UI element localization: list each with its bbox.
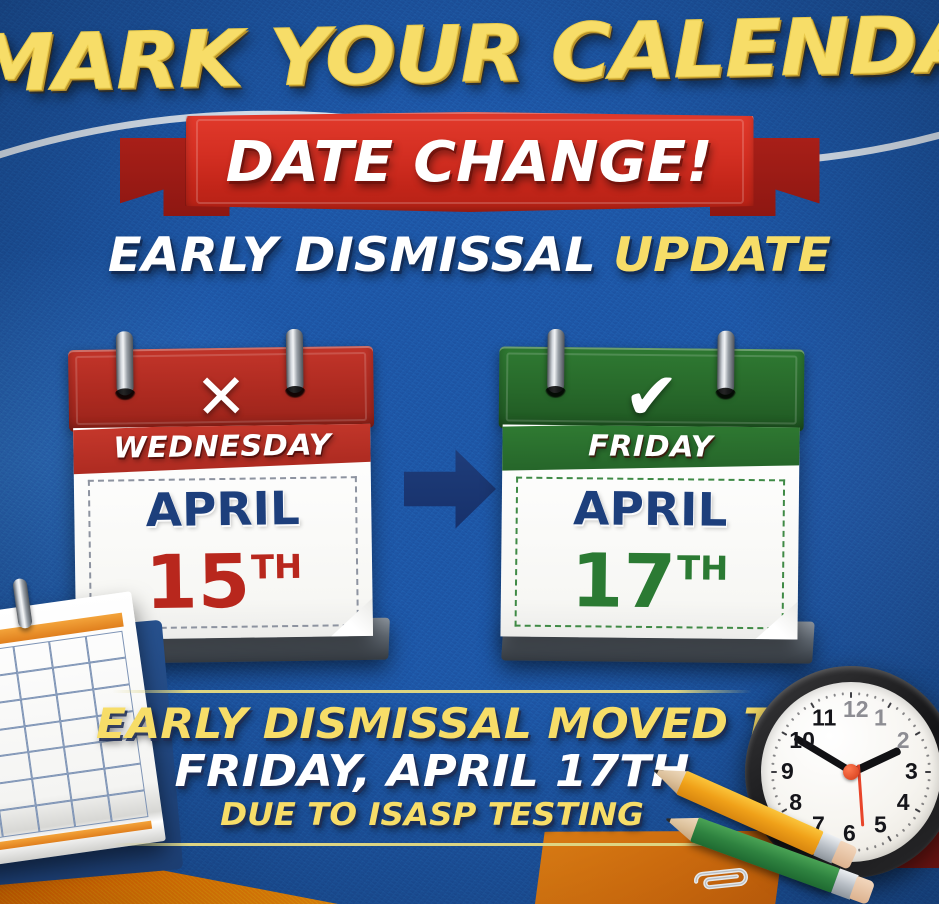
calendar-day-band: WEDNESDAY (73, 424, 373, 475)
clock-tick (773, 754, 776, 757)
clock-tick (818, 699, 821, 703)
clock-tick (775, 795, 778, 798)
calendar-top-bar: ✕ (68, 346, 374, 432)
clock-tick (778, 739, 782, 742)
clock-numeral-4: 4 (897, 789, 910, 816)
clock-tick (850, 692, 852, 698)
clock-numeral-9: 9 (781, 758, 794, 785)
date-change-ribbon: DATE CHANGE! (120, 112, 820, 222)
calendar-day-digits: 17 (570, 538, 676, 625)
message-bottom-rule (112, 843, 752, 846)
new-date-calendar: ✔ FRIDAY APRIL 17TH (496, 328, 804, 651)
clock-tick (902, 829, 905, 833)
desk-grid-cell (35, 801, 75, 833)
clock-tick (927, 763, 930, 765)
message-line-1: EARLY DISMISSAL MOVED TO (96, 701, 768, 747)
clock-tick (858, 848, 860, 851)
subtitle: EARLY DISMISSAL UPDATE (0, 228, 939, 283)
clock-tick (858, 692, 860, 695)
calendar-day-name: WEDNESDAY (113, 427, 331, 464)
calendar-ring-left (116, 331, 134, 395)
ribbon-body: DATE CHANGE! (186, 112, 754, 212)
clock-tick (908, 823, 912, 826)
clock-tick (895, 834, 898, 838)
clock-tick (921, 739, 925, 742)
clock-tick (771, 771, 777, 773)
page-title: MARK YOUR CALENDARS! (0, 6, 939, 104)
calendar-day-band: FRIDAY (500, 424, 799, 470)
message-line-3: DUE TO ISASP TESTING (96, 797, 768, 833)
clock-tick (887, 836, 892, 842)
clock-tick (803, 707, 806, 711)
clock-tick (771, 779, 774, 781)
clock-tick (771, 763, 774, 765)
clock-tick (881, 842, 884, 846)
message-top-rule (112, 690, 752, 693)
clock-tick (874, 845, 877, 848)
clock-tick (778, 802, 782, 805)
clock-tick (924, 746, 927, 749)
check-icon: ✔ (499, 366, 805, 427)
clock-tick (913, 724, 917, 727)
clock-tick (797, 712, 800, 716)
clock-tick (842, 692, 844, 695)
clock-numeral-12: 12 (843, 696, 869, 723)
calendar-day-suffix: TH (677, 548, 729, 588)
subtitle-white-part: EARLY DISMISSAL (108, 228, 596, 283)
clock-tick (924, 795, 927, 798)
clock-tick (925, 771, 931, 773)
clock-center-pin (843, 764, 859, 780)
clock-numeral-5: 5 (874, 812, 887, 839)
clock-tick (874, 696, 877, 699)
clock-numeral-3: 3 (905, 758, 918, 785)
calendar-day-suffix: TH (251, 547, 303, 587)
calendar-day-name: FRIDAY (588, 428, 713, 463)
clock-numeral-1: 1 (874, 704, 887, 731)
clock-tick (895, 707, 898, 711)
clock-tick (810, 702, 815, 708)
cross-icon: ✕ (68, 366, 374, 428)
calendar-ring-left (547, 329, 565, 393)
clock-tick (825, 696, 828, 699)
calendar-top-bar: ✔ (499, 346, 805, 431)
calendar-day-number: 17TH (500, 528, 799, 621)
desk-grid-cell (0, 806, 39, 838)
subtitle-yellow-part: UPDATE (613, 228, 831, 283)
clock-numeral-2: 2 (897, 727, 910, 754)
clock-tick (775, 746, 778, 749)
clock-tick (926, 787, 929, 790)
clock-tick (781, 731, 787, 736)
clock-tick (881, 699, 884, 703)
announcement-message: EARLY DISMISSAL MOVED TO FRIDAY, APRIL 1… (112, 690, 752, 846)
clock-tick (927, 779, 930, 781)
clock-tick (915, 808, 921, 813)
ribbon-label: DATE CHANGE! (226, 130, 713, 195)
calendar-ring-right (717, 331, 735, 395)
clock-tick (908, 718, 912, 721)
clock-tick (887, 702, 892, 708)
clock-tick (902, 712, 905, 716)
clock-tick (833, 694, 836, 697)
clock-tick (926, 754, 929, 757)
clock-tick (866, 847, 869, 850)
clock-tick (791, 718, 795, 721)
poster-canvas: MARK YOUR CALENDARS! DATE CHANGE! EARLY … (0, 0, 939, 904)
calendar-day-digits: 15 (145, 539, 251, 626)
clock-tick (913, 816, 917, 819)
calendar-ring-right (286, 329, 304, 393)
clock-numeral-8: 8 (789, 789, 802, 816)
clock-tick (921, 802, 925, 805)
clock-tick (915, 731, 921, 736)
clock-tick (773, 787, 776, 790)
calendar-page: FRIDAY APRIL 17TH (500, 424, 799, 639)
clock-numeral-11: 11 (812, 704, 836, 731)
